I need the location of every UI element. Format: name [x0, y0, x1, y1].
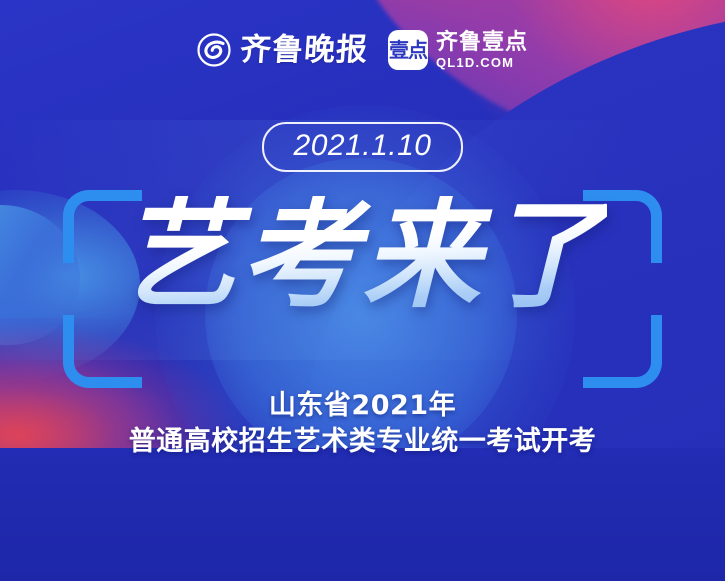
brand-qilu-wanbao-label: 齐鲁晚报 [239, 35, 369, 66]
date-badge: 2021.1.10 [262, 122, 464, 172]
corner-bracket-bottom-right [583, 315, 662, 388]
subtitle-line-2: 普通高校招生艺术类专业统一考试开考 [0, 424, 725, 460]
date-badge-label: 2021.1.10 [294, 129, 432, 162]
brand-qilu-yidian-label: 齐鲁壹点 [436, 31, 528, 54]
brand-qilu-yidian: 壹点 齐鲁壹点 QL1D.COM [388, 30, 528, 70]
subtitle-line-1: 山东省2021年 [0, 388, 725, 424]
poster: 齐鲁晚报 壹点 齐鲁壹点 QL1D.COM 2021.1.10 艺考来了 山东省… [0, 0, 725, 581]
headline-text: 艺考来了 [118, 196, 606, 314]
subtitle: 山东省2021年 普通高校招生艺术类专业统一考试开考 [0, 388, 725, 459]
app-icon-glyph: 壹点 [389, 40, 427, 60]
brand-qilu-wanbao: 齐鲁晚报 [197, 33, 368, 67]
swirl-circle-icon [197, 33, 231, 67]
brand-qilu-yidian-text: 齐鲁壹点 QL1D.COM [436, 31, 528, 68]
brand-qilu-yidian-domain: QL1D.COM [436, 56, 528, 69]
corner-bracket-bottom-left [63, 315, 142, 388]
masthead: 齐鲁晚报 壹点 齐鲁壹点 QL1D.COM [0, 30, 725, 70]
background-bottom-band [0, 448, 725, 581]
qilu-yidian-app-icon: 壹点 [388, 30, 428, 70]
headline: 艺考来了 [0, 196, 725, 314]
